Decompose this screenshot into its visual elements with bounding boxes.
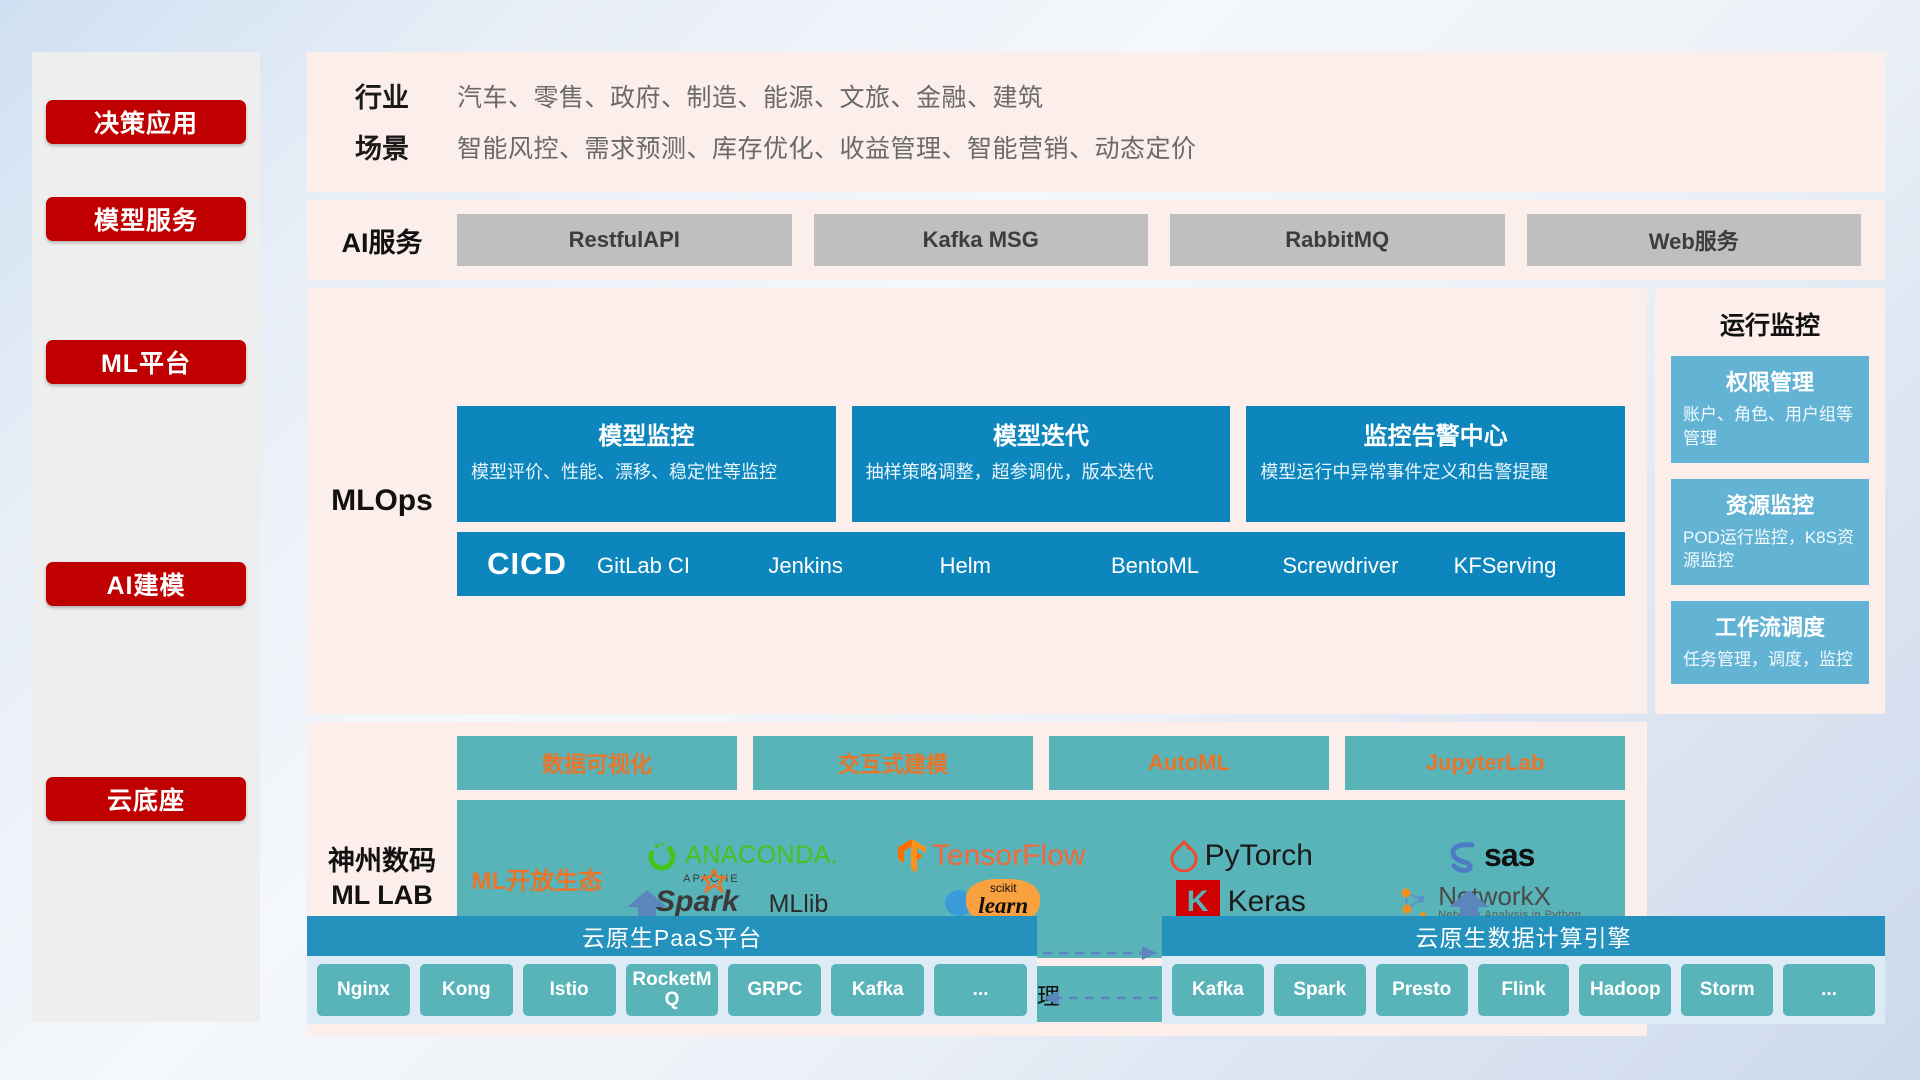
ai-service-band: AI服务 RestfulAPI Kafka MSG RabbitMQ Web服务 bbox=[307, 200, 1885, 280]
ml-tool-interactive-modeling[interactable]: 交互式建模 bbox=[753, 736, 1033, 790]
bidirectional-link-arrows bbox=[1043, 940, 1158, 1010]
paas-chip-kong[interactable]: Kong bbox=[420, 964, 513, 1016]
data-engine-group: 云原生数据计算引擎 Kafka Spark Presto Flink Hadoo… bbox=[1162, 916, 1885, 1024]
industry-row: 行业 汽车、零售、政府、制造、能源、文旅、金融、建筑 bbox=[307, 70, 1885, 121]
paas-platform-group: 云原生PaaS平台 Nginx Kong Istio RocketMQ GRPC… bbox=[307, 916, 1037, 1024]
rail-chip-label: 云底座 bbox=[107, 781, 185, 817]
ai-service-chip-rabbitmq[interactable]: RabbitMQ bbox=[1170, 214, 1505, 266]
scenario-label: 场景 bbox=[307, 127, 457, 166]
scenario-row: 场景 智能风控、需求预测、库存优化、收益管理、智能营销、动态定价 bbox=[307, 121, 1885, 172]
rail-chip-ai-modeling[interactable]: AI建模 bbox=[46, 562, 246, 606]
stack-layer-rail: 决策应用 模型服务 ML平台 AI建模 云底座 bbox=[32, 52, 260, 1022]
rail-chip-label: AI建模 bbox=[106, 566, 185, 602]
ai-service-chip-web-service[interactable]: Web服务 bbox=[1527, 214, 1862, 266]
rail-chip-label: 模型服务 bbox=[94, 201, 198, 237]
card-desc: 模型评价、性能、漂移、稳定性等监控 bbox=[471, 459, 822, 485]
ai-service-chip-restfulapi[interactable]: RestfulAPI bbox=[457, 214, 792, 266]
card-title: 工作流调度 bbox=[1683, 610, 1857, 642]
card-desc: 抽样策略调整，超参调优，版本迭代 bbox=[866, 459, 1217, 485]
rail-chip-label: 决策应用 bbox=[94, 104, 198, 140]
paas-chip-nginx[interactable]: Nginx bbox=[317, 964, 410, 1016]
paas-platform-title: 云原生PaaS平台 bbox=[307, 916, 1037, 956]
ml-tool-automl[interactable]: AutoML bbox=[1049, 736, 1329, 790]
ai-service-label: AI服务 bbox=[307, 221, 457, 260]
card-desc: 模型运行中异常事件定义和告警提醒 bbox=[1260, 459, 1611, 485]
industry-label: 行业 bbox=[307, 76, 457, 115]
ai-service-chip-kafka-msg[interactable]: Kafka MSG bbox=[814, 214, 1149, 266]
ml-tool-list: 数据可视化 交互式建模 AutoML JupyterLab bbox=[457, 736, 1625, 790]
paas-chip-more[interactable]: ... bbox=[934, 964, 1027, 1016]
engine-chip-spark[interactable]: Spark bbox=[1274, 964, 1366, 1016]
rail-chip-label: ML平台 bbox=[101, 344, 191, 380]
mlops-card-model-monitoring[interactable]: 模型监控 模型评价、性能、漂移、稳定性等监控 bbox=[457, 406, 836, 522]
card-desc: 账户、角色、用户组等管理 bbox=[1683, 403, 1857, 451]
card-title: 权限管理 bbox=[1683, 365, 1857, 397]
tensorflow-text: TensorFlow bbox=[932, 839, 1085, 873]
rail-chip-cloud-base[interactable]: 云底座 bbox=[46, 777, 246, 821]
card-title: 监控告警中心 bbox=[1260, 416, 1611, 451]
monitor-card-workflow[interactable]: 工作流调度 任务管理，调度，监控 bbox=[1671, 601, 1869, 684]
engine-chip-kafka[interactable]: Kafka bbox=[1172, 964, 1264, 1016]
card-desc: POD运行监控，K8S资源监控 bbox=[1683, 526, 1857, 574]
paas-chip-rocketmq[interactable]: RocketMQ bbox=[626, 964, 719, 1016]
cicd-item-bentoml[interactable]: BentoML bbox=[1111, 545, 1282, 583]
pytorch-text: PyTorch bbox=[1205, 839, 1313, 873]
engine-chip-more[interactable]: ... bbox=[1783, 964, 1875, 1016]
anaconda-text: ANACONDA. bbox=[685, 841, 838, 870]
mlops-card-model-iteration[interactable]: 模型迭代 抽样策略调整，超参调优，版本迭代 bbox=[852, 406, 1231, 522]
monitor-card-permission[interactable]: 权限管理 账户、角色、用户组等管理 bbox=[1671, 356, 1869, 463]
paas-chip-grpc[interactable]: GRPC bbox=[728, 964, 821, 1016]
cicd-item-list: GitLab CI Jenkins Helm BentoML Screwdriv… bbox=[597, 545, 1625, 583]
ml-lab-label-line1: 神州数码 bbox=[307, 845, 457, 879]
cicd-item-screwdriver[interactable]: Screwdriver bbox=[1282, 545, 1453, 583]
ai-service-chip-list: RestfulAPI Kafka MSG RabbitMQ Web服务 bbox=[457, 214, 1885, 266]
cicd-item-helm[interactable]: Helm bbox=[940, 545, 1111, 583]
sas-text: sas bbox=[1484, 837, 1534, 874]
mlops-content: 模型监控 模型评价、性能、漂移、稳定性等监控 模型迭代 抽样策略调整，超参调优，… bbox=[457, 406, 1647, 596]
rail-chip-ml-platform[interactable]: ML平台 bbox=[46, 340, 246, 384]
mlops-card-alert-center[interactable]: 监控告警中心 模型运行中异常事件定义和告警提醒 bbox=[1246, 406, 1625, 522]
ml-tool-data-visualization[interactable]: 数据可视化 bbox=[457, 736, 737, 790]
mlops-band: MLOps 模型监控 模型评价、性能、漂移、稳定性等监控 模型迭代 抽样策略调整… bbox=[307, 288, 1647, 714]
scenario-values: 智能风控、需求预测、库存优化、收益管理、智能营销、动态定价 bbox=[457, 129, 1197, 165]
card-title: 模型监控 bbox=[471, 416, 822, 451]
pytorch-logo: PyTorch bbox=[1169, 839, 1313, 873]
rail-chip-decision-apps[interactable]: 决策应用 bbox=[46, 100, 246, 144]
card-title: 资源监控 bbox=[1683, 488, 1857, 520]
paas-chip-list: Nginx Kong Istio RocketMQ GRPC Kafka ... bbox=[307, 956, 1037, 1024]
engine-chip-presto[interactable]: Presto bbox=[1376, 964, 1468, 1016]
anaconda-logo: ANACONDA. bbox=[645, 839, 838, 873]
runtime-monitoring-column: 运行监控 权限管理 账户、角色、用户组等管理 资源监控 POD运行监控，K8S资… bbox=[1655, 288, 1885, 714]
decision-apps-band: 行业 汽车、零售、政府、制造、能源、文旅、金融、建筑 场景 智能风控、需求预测、… bbox=[307, 52, 1885, 192]
ml-platform-row: MLOps 模型监控 模型评价、性能、漂移、稳定性等监控 模型迭代 抽样策略调整… bbox=[307, 288, 1885, 714]
mlops-label: MLOps bbox=[307, 484, 457, 518]
cicd-item-kfserving[interactable]: KFServing bbox=[1454, 545, 1625, 583]
card-desc: 任务管理，调度，监控 bbox=[1683, 648, 1857, 672]
runtime-monitoring-title: 运行监控 bbox=[1671, 306, 1869, 342]
ml-tool-jupyterlab[interactable]: JupyterLab bbox=[1345, 736, 1625, 790]
cicd-label: CICD bbox=[457, 546, 597, 582]
monitor-card-resource[interactable]: 资源监控 POD运行监控，K8S资源监控 bbox=[1671, 479, 1869, 586]
sas-logo: sas bbox=[1446, 837, 1534, 874]
cicd-item-gitlab-ci[interactable]: GitLab CI bbox=[597, 545, 768, 583]
mlops-card-list: 模型监控 模型评价、性能、漂移、稳定性等监控 模型迭代 抽样策略调整，超参调优，… bbox=[457, 406, 1625, 522]
industry-values: 汽车、零售、政府、制造、能源、文旅、金融、建筑 bbox=[457, 78, 1044, 114]
data-engine-title: 云原生数据计算引擎 bbox=[1162, 916, 1885, 956]
card-title: 模型迭代 bbox=[866, 416, 1217, 451]
rail-chip-model-service[interactable]: 模型服务 bbox=[46, 197, 246, 241]
engine-chip-list: Kafka Spark Presto Flink Hadoop Storm ..… bbox=[1162, 956, 1885, 1024]
engine-chip-storm[interactable]: Storm bbox=[1681, 964, 1773, 1016]
cicd-bar: CICD GitLab CI Jenkins Helm BentoML Scre… bbox=[457, 532, 1625, 596]
engine-chip-hadoop[interactable]: Hadoop bbox=[1579, 964, 1671, 1016]
paas-chip-istio[interactable]: Istio bbox=[523, 964, 616, 1016]
cicd-item-jenkins[interactable]: Jenkins bbox=[768, 545, 939, 583]
paas-chip-kafka[interactable]: Kafka bbox=[831, 964, 924, 1016]
tensorflow-logo: TensorFlow bbox=[897, 838, 1085, 874]
engine-chip-flink[interactable]: Flink bbox=[1478, 964, 1570, 1016]
